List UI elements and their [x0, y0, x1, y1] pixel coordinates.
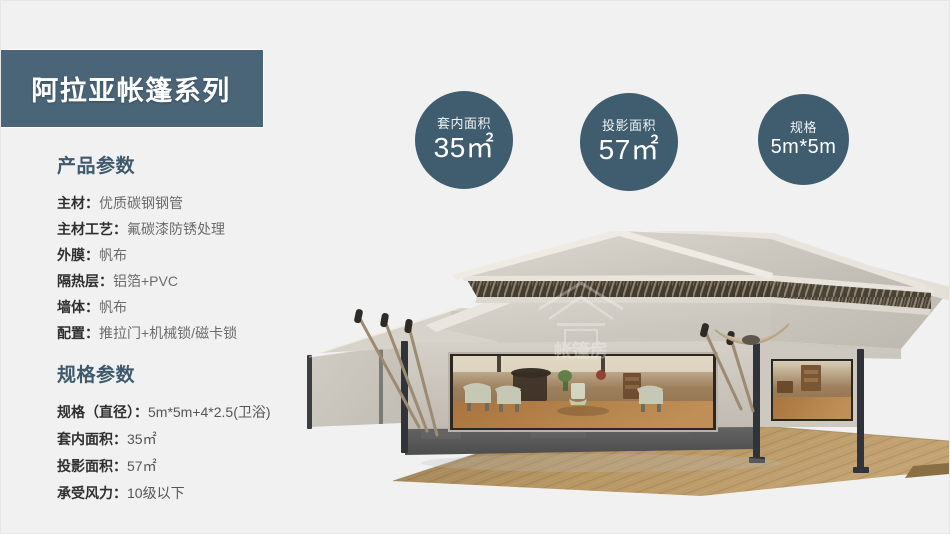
spec-label: 规格（直径）： [57, 404, 148, 420]
poster-canvas: 阿拉亚帐篷系列 产品参数 主材：优质碳钢钢管 主材工艺：氟碳漆防锈处理 外膜：帆… [0, 0, 950, 534]
stat-badge-interior-area: 套内面积 35㎡ [415, 91, 513, 189]
stat-badge-value: 35㎡ [434, 133, 495, 162]
spec-value: 铝箔+PVC [113, 273, 178, 289]
watermark-text: 帐篷房 [554, 340, 608, 361]
spec-label: 承受风力： [57, 485, 127, 501]
spec-value: 5m*5m+4*2.5(卫浴) [148, 404, 271, 420]
stat-badge-value: 57㎡ [599, 135, 660, 164]
spec-value: 帆布 [99, 247, 127, 263]
spec-value: 35㎡ [127, 431, 157, 447]
stat-badge-dimensions: 规格 5m*5m [758, 94, 849, 185]
spec-label: 隔热层： [57, 273, 113, 289]
right-side-room [756, 341, 861, 427]
spec-label: 墙体： [57, 299, 99, 315]
spec-label: 外膜： [57, 247, 99, 263]
product-params-heading: 产品参数 [57, 156, 357, 179]
stat-badge-label: 规格 [790, 121, 817, 135]
spec-value: 57㎡ [127, 458, 157, 474]
spec-value: 优质碳钢钢管 [99, 195, 183, 211]
spec-value: 推拉门+机械锁/磁卡锁 [99, 325, 237, 341]
spec-label: 套内面积： [57, 431, 127, 447]
spec-label: 投影面积： [57, 458, 127, 474]
spec-value: 10级以下 [127, 485, 185, 501]
spec-value: 帆布 [99, 299, 127, 315]
spec-label: 配置： [57, 325, 99, 341]
stat-badge-projected-area: 投影面积 57㎡ [580, 93, 678, 191]
title-banner: 阿拉亚帐篷系列 [0, 50, 263, 127]
stat-badge-label: 套内面积 [437, 117, 491, 131]
page-title: 阿拉亚帐篷系列 [31, 69, 231, 108]
spec-value: 氟碳漆防锈处理 [127, 221, 225, 237]
tent-illustration: 帐篷房 [301, 231, 950, 521]
spec-row: 主材：优质碳钢钢管 [57, 190, 357, 216]
spec-label: 主材工艺： [57, 221, 127, 237]
stat-badge-label: 投影面积 [602, 119, 656, 133]
spec-label: 主材： [57, 195, 99, 211]
stat-badge-value: 5m*5m [771, 137, 837, 158]
